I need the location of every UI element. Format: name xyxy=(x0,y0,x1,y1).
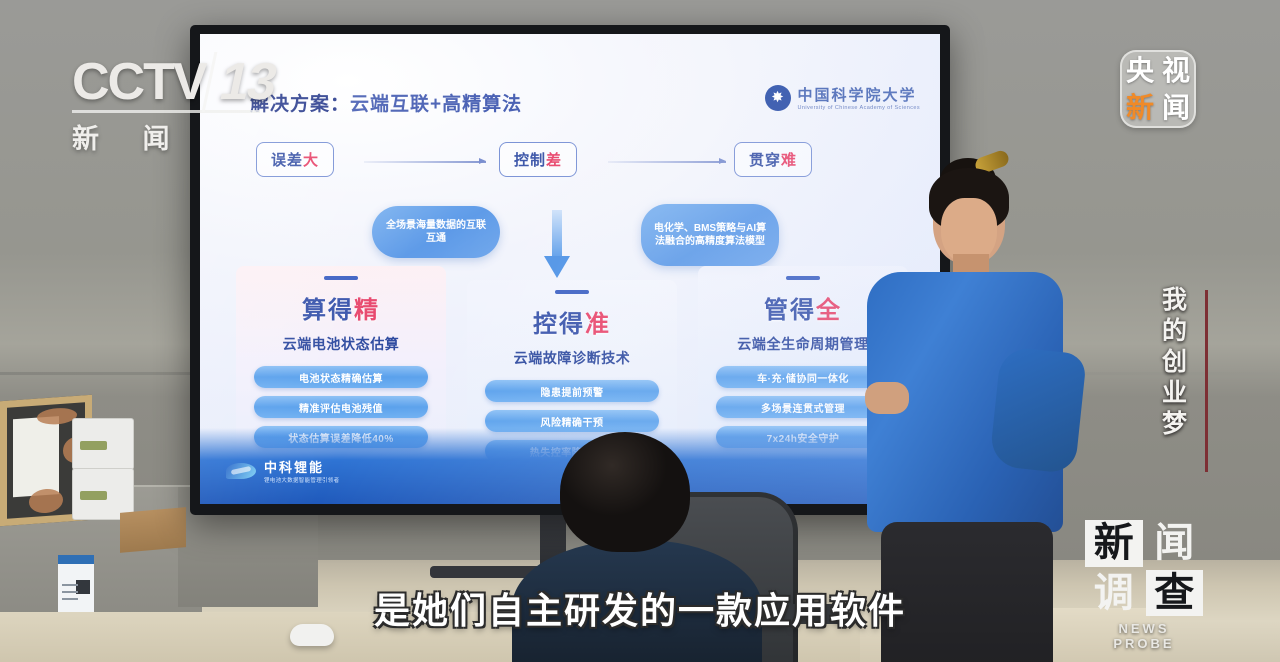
problem-pill-3-highlight: 难 xyxy=(781,152,797,169)
university-text: 中国科学院大学 University of Chinese Academy of… xyxy=(798,84,920,111)
broadcast-subtitle: 是她们自主研发的一款应用软件 xyxy=(0,582,1280,634)
cctv-news-badge: 央 视 新 闻 xyxy=(1120,50,1196,128)
column-1-tag-2: 精准评估电池残值 xyxy=(254,396,428,418)
column-2-heading-highlight: 准 xyxy=(585,311,611,338)
university-emblem-icon: ✸ xyxy=(765,85,791,111)
program-title-char-1: 我 xyxy=(1162,288,1187,313)
probe-logo-char-1: 新 xyxy=(1085,520,1143,567)
column-1-subheading: 云端电池状态估算 xyxy=(283,334,400,354)
problem-pill-3: 贯穿难 xyxy=(734,142,812,177)
screenshot-root: 解决方案：云端互联+高精算法 ✸ 中国科学院大学 University of C… xyxy=(0,0,1280,662)
problem-pill-2-highlight: 差 xyxy=(546,152,562,169)
news-badge-char-4: 闻 xyxy=(1162,94,1190,122)
capsule-data-interconnect: 全场景海量数据的互联互通 xyxy=(372,206,500,258)
university-name-cn: 中国科学院大学 xyxy=(798,84,920,105)
column-accent-dash xyxy=(786,276,820,280)
column-1-heading-highlight: 精 xyxy=(354,297,380,324)
column-3-heading-text: 管得 xyxy=(764,297,816,324)
university-name-en: University of Chinese Academy of Science… xyxy=(798,105,920,111)
storage-bin-upper xyxy=(72,418,134,470)
column-1-heading-text: 算得 xyxy=(302,297,354,324)
cctv-wordmark: CCTV xyxy=(72,52,206,112)
column-2-heading-text: 控得 xyxy=(533,311,585,338)
pill-connector-2 xyxy=(608,161,726,163)
program-title-char-4: 业 xyxy=(1162,381,1187,406)
cctv-channel-name: 新 闻 xyxy=(72,117,272,156)
bin-handle xyxy=(80,491,107,500)
company-name-cn: 中科锂能 xyxy=(264,457,339,476)
column-3-heading-highlight: 全 xyxy=(816,297,842,324)
column-1-tag-1: 电池状态精确估算 xyxy=(254,366,428,388)
probe-logo-char-2: 闻 xyxy=(1146,520,1204,567)
program-title-char-5: 梦 xyxy=(1162,412,1187,437)
column-3-heading: 管得全 xyxy=(764,290,842,325)
presenter-arm xyxy=(989,346,1087,474)
cctv-logo-row: CCTV 13 xyxy=(72,52,272,112)
program-title-rule xyxy=(1205,290,1208,472)
capsule-algorithm-model: 电化学、BMS策略与AI算法融合的高精度算法模型 xyxy=(641,204,779,266)
slide-title: 解决方案：云端互联+高精算法 xyxy=(250,89,522,116)
problem-pill-1-text: 误差 xyxy=(271,152,303,169)
pill-connector-1 xyxy=(364,161,486,163)
column-accent-dash xyxy=(324,276,358,280)
column-2-subheading: 云端故障诊断技术 xyxy=(514,348,631,368)
seated-person-head xyxy=(560,432,690,552)
column-2-heading: 控得准 xyxy=(533,304,611,339)
program-title-char-3: 创 xyxy=(1162,350,1187,375)
company-brand: 中科锂能 锂电池大数据智能管理引领者 xyxy=(226,457,339,484)
news-badge-char-3: 新 xyxy=(1126,94,1154,122)
poster-decal xyxy=(37,407,77,426)
problem-pill-1-highlight: 大 xyxy=(303,152,319,169)
company-brand-text: 中科锂能 锂电池大数据智能管理引领者 xyxy=(264,457,339,484)
program-vertical-title: 我 的 创 业 梦 xyxy=(1162,288,1187,437)
cctv-channel-number: 13 xyxy=(201,52,281,112)
news-badge-char-1: 央 xyxy=(1126,57,1154,85)
cctv-channel-logo: CCTV 13 新 闻 xyxy=(72,52,272,144)
university-logo: ✸ 中国科学院大学 University of Chinese Academy … xyxy=(765,84,920,111)
presenter-hand xyxy=(865,382,909,414)
problem-pill-3-text: 贯穿 xyxy=(749,152,781,169)
poster-decal xyxy=(29,488,63,514)
poster-paper xyxy=(13,416,59,497)
program-title-char-2: 的 xyxy=(1162,319,1187,344)
problem-pill-2-text: 控制 xyxy=(514,152,546,169)
column-1-heading: 算得精 xyxy=(302,290,380,325)
column-2-tag-1: 隐患提前预警 xyxy=(485,380,659,402)
arrow-shaft xyxy=(552,210,562,258)
news-badge-char-2: 视 xyxy=(1162,57,1190,85)
cardboard-box xyxy=(120,507,186,553)
slide-title-value: 云端互联+高精算法 xyxy=(350,94,522,115)
company-logo-icon xyxy=(226,463,256,479)
problem-pill-row: 误差大 控制差 贯穿难 xyxy=(256,142,906,182)
bin-handle xyxy=(80,441,107,450)
column-accent-dash xyxy=(555,290,589,294)
company-tagline: 锂电池大数据智能管理引领者 xyxy=(264,476,339,484)
problem-pill-2: 控制差 xyxy=(499,142,577,177)
